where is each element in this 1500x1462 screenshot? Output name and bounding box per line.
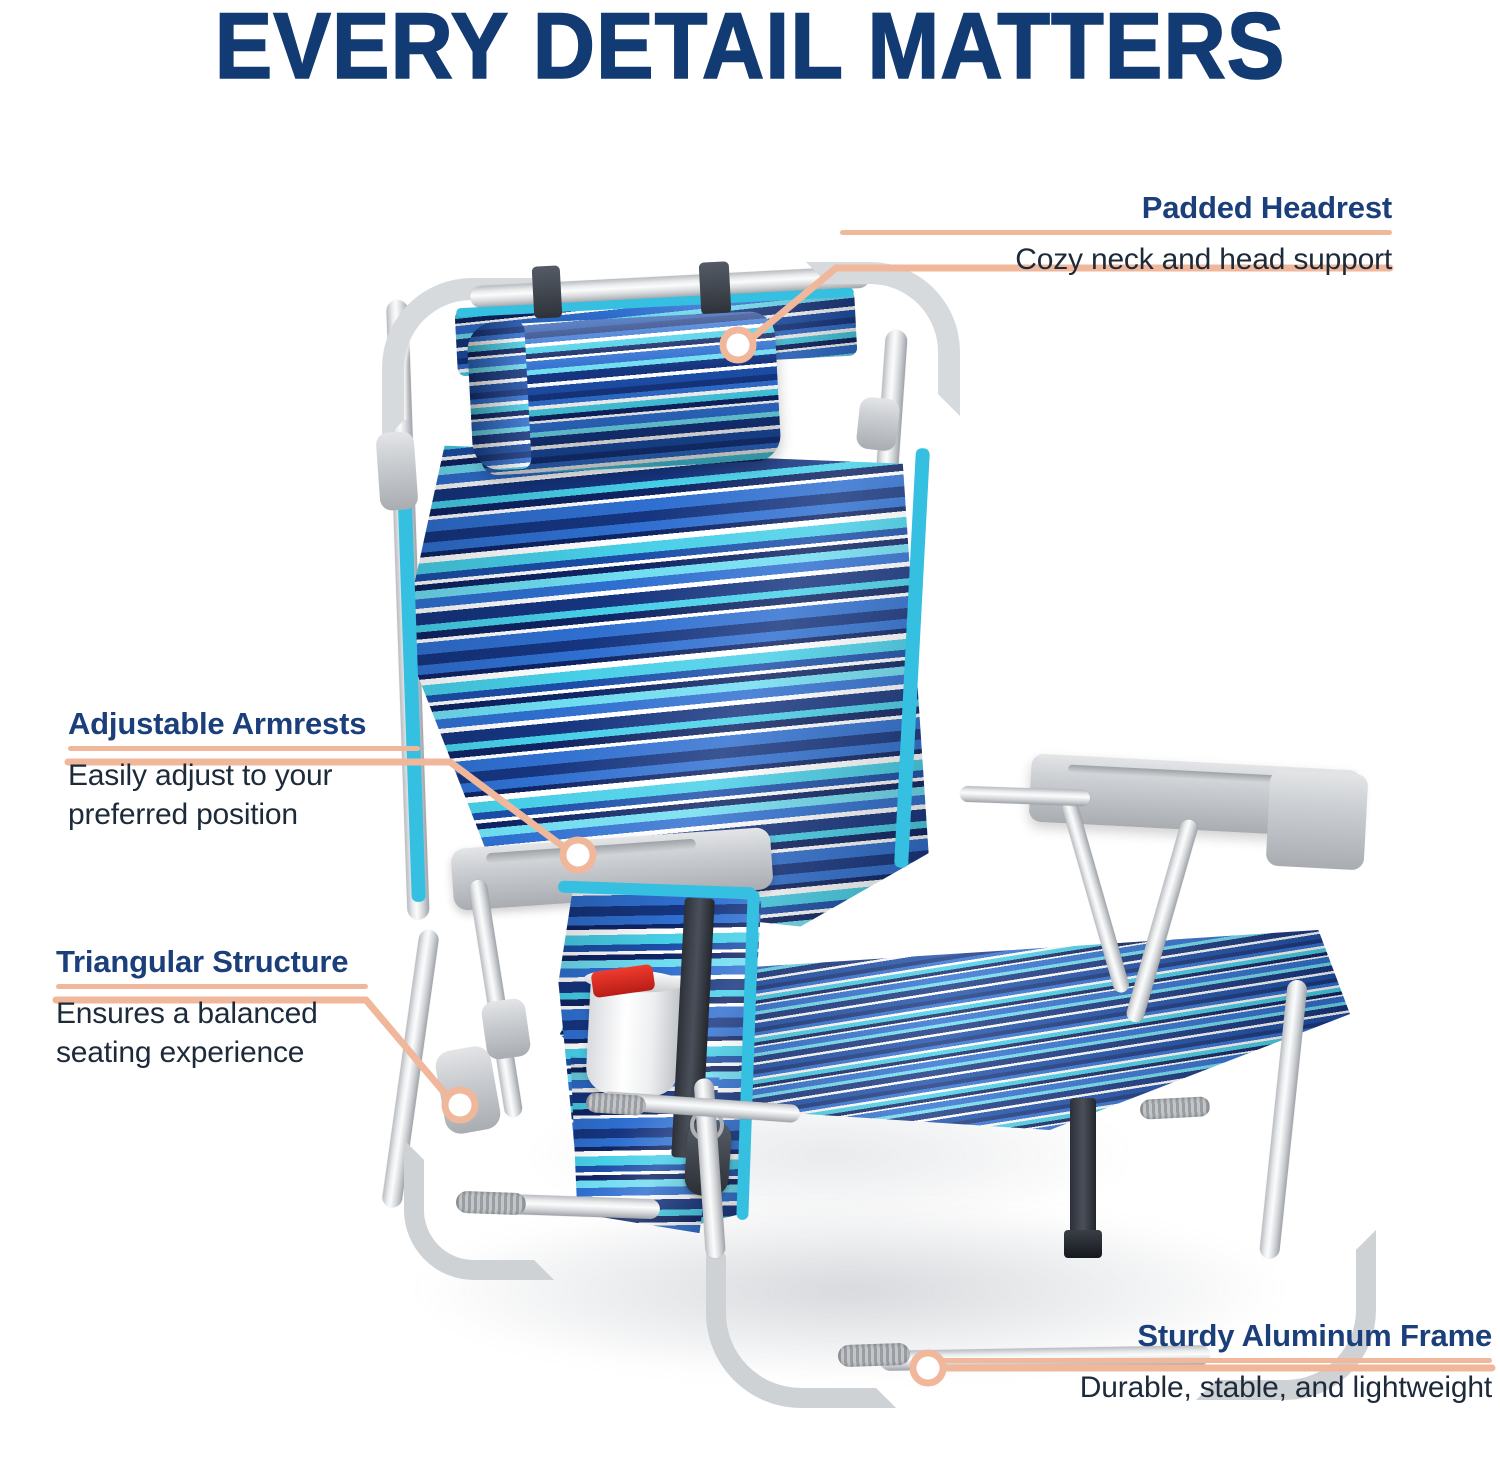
callout-body-line2-triangular-structure: seating experience [56,1033,446,1072]
callout-body-line1-triangular-structure: Ensures a balanced [56,994,446,1033]
headrest-strap-tab-right [699,261,732,314]
backpack-strap-hanging [1070,1098,1096,1248]
callout-rule-adjustable-armrests [68,746,420,751]
callout-padded-headrest: Padded Headrest Cozy neck and head suppo… [840,190,1392,279]
headrest-pillow-end-cap [466,321,532,472]
page-title: EVERY DETAIL MATTERS [60,0,1440,98]
callout-title-triangular-structure: Triangular Structure [56,944,446,980]
rear-foot-cap [456,1191,527,1215]
callout-body-line1-adjustable-armrests: Easily adjust to your [68,756,458,795]
callout-rule-triangular-structure [56,984,368,989]
callout-body-padded-headrest: Cozy neck and head support [840,240,1392,279]
callout-title-padded-headrest: Padded Headrest [840,190,1392,226]
recline-hinge-left [375,431,418,511]
seat-hinge-joint [480,997,532,1061]
callout-rule-sturdy-aluminum-frame [940,1358,1492,1363]
callout-title-sturdy-aluminum-frame: Sturdy Aluminum Frame [940,1318,1492,1354]
recline-hinge-right [855,396,900,452]
callout-title-adjustable-armrests: Adjustable Armrests [68,706,458,742]
right-armrest-top-rail [960,786,1090,807]
front-leg-left-curve [706,1236,896,1408]
callout-sturdy-aluminum-frame: Sturdy Aluminum Frame Durable, stable, a… [940,1318,1492,1407]
callout-rule-padded-headrest [840,230,1392,235]
right-armrest-back-block [1266,770,1369,871]
callout-body-sturdy-aluminum-frame: Durable, stable, and lightweight [940,1368,1492,1407]
headrest-pillow-end-stripes [466,321,532,472]
headrest-strap-tab-left [532,265,563,318]
seat-front-rail-cap [585,1092,646,1116]
callout-body-line2-adjustable-armrests: preferred position [68,795,458,834]
seat-right-cap [1140,1096,1211,1120]
callout-triangular-structure: Triangular Structure Ensures a balanced … [56,944,446,1072]
callout-adjustable-armrests: Adjustable Armrests Easily adjust to you… [68,706,458,834]
backpack-strap-buckle [1064,1230,1102,1258]
